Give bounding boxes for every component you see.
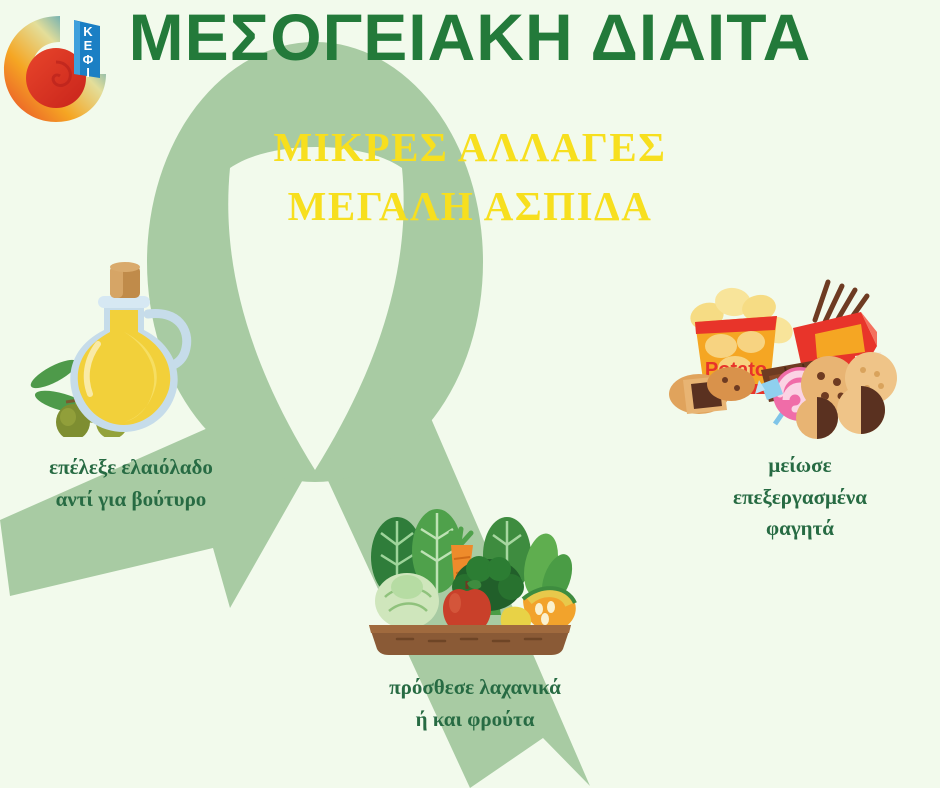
caption-line: επέλεξε ελαιόλαδο <box>0 452 262 484</box>
page-title: ΜΕΣΟΓΕΙΑΚΗ ΔΙΑΙΤΑ <box>0 4 940 71</box>
cabbage <box>375 573 439 629</box>
cookies <box>796 352 897 439</box>
vegetable-basket-icon <box>355 503 585 655</box>
caption-line: ή και φρούτα <box>325 704 625 736</box>
pumpkin-slice <box>523 588 576 631</box>
subtitle-line-2: ΜΕΓΑΛΗ ΑΣΠΙΔΑ <box>140 177 800 236</box>
caption-line: μείωσε <box>660 450 940 482</box>
oil-carafe <box>70 262 186 432</box>
caption-vegetables: πρόσθεσε λαχανικά ή και φρούτα <box>325 672 625 735</box>
caption-line: πρόσθεσε λαχανικά <box>325 672 625 704</box>
olive-oil-bottle-icon <box>26 252 206 437</box>
caption-line: φαγητά <box>660 513 940 545</box>
wicker-basket <box>369 625 571 655</box>
subtitle: ΜΙΚΡΕΣ ΑΛΛΑΓΕΣ ΜΕΓΑΛΗ ΑΣΠΙΔΑ <box>140 118 800 237</box>
brownie-slices <box>669 367 755 414</box>
poster-canvas: ΜΕΣΟΓΕΙΑΚΗ ΔΙΑΙΤΑ ΜΙΚΡΕΣ ΑΛΛΑΓΕΣ ΜΕΓΑΛΗ … <box>0 0 940 788</box>
caption-line: αντί για βούτυρο <box>0 484 262 516</box>
processed-junk-food-icon: Potato <box>665 272 897 440</box>
caption-processed-food: μείωσε επεξεργασμένα φαγητά <box>660 450 940 545</box>
caption-olive-oil: επέλεξε ελαιόλαδο αντί για βούτυρο <box>0 452 262 515</box>
subtitle-line-1: ΜΙΚΡΕΣ ΑΛΛΑΓΕΣ <box>140 118 800 177</box>
caption-line: επεξεργασμένα <box>660 482 940 514</box>
